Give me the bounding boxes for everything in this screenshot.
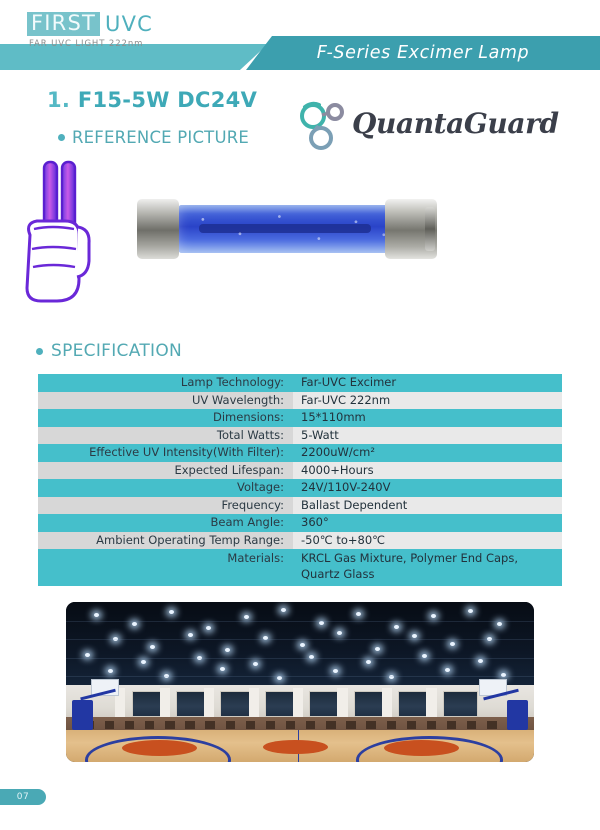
wainscot-panel (447, 721, 456, 728)
table-row: UV Wavelength:Far-UVC 222nm (38, 392, 562, 410)
ceiling-beam (66, 676, 534, 677)
reference-picture-heading: REFERENCE PICTURE (58, 128, 249, 147)
wainscot-panel (306, 721, 315, 728)
spec-value: 4000+Hours (293, 462, 562, 480)
ceiling-light-icon (356, 612, 361, 616)
ceiling-light-icon (300, 643, 305, 647)
ceiling-light-icon (188, 633, 193, 637)
table-row: Beam Angle:360° (38, 514, 562, 532)
wainscot-panel (205, 721, 214, 728)
ceiling-beam (66, 621, 534, 622)
table-row: Materials:KRCL Gas Mixture, Polymer End … (38, 549, 562, 586)
ceiling-light-icon (375, 647, 380, 651)
wainscot-panel (387, 721, 396, 728)
brochure-page: F-Series Excimer Lamp FIRST UVC FAR UVC … (0, 0, 600, 830)
ceiling-light-icon (169, 610, 174, 614)
spec-label: Ambient Operating Temp Range: (38, 532, 293, 550)
specification-label: SPECIFICATION (51, 341, 182, 361)
specification-heading: SPECIFICATION (36, 341, 182, 361)
ceiling-light-icon (220, 667, 225, 671)
gym-pillar (204, 688, 214, 720)
wainscot-panel (226, 721, 235, 728)
hand-holding-uv-tubes-icon (22, 157, 132, 317)
gym-ceiling (66, 602, 534, 695)
lamp-glow-speckle (175, 205, 407, 253)
gym-pillar (249, 688, 259, 720)
spec-label: Frequency: (38, 497, 293, 515)
gym-pillar (160, 688, 170, 720)
table-row: Lamp Technology:Far-UVC Excimer (38, 374, 562, 392)
ceiling-light-icon (431, 614, 436, 618)
hoop-base-left (72, 700, 93, 730)
basketball-hoop-right (469, 679, 530, 730)
table-row: Expected Lifespan:4000+Hours (38, 462, 562, 480)
ceiling-light-icon (333, 669, 338, 673)
ceiling-light-icon (468, 609, 473, 613)
reference-picture-label: REFERENCE PICTURE (72, 128, 249, 147)
section-number: 1. (47, 88, 70, 112)
ceiling-light-icon (450, 642, 455, 646)
spec-label: UV Wavelength: (38, 392, 293, 410)
wainscot-panel (246, 721, 255, 728)
spec-value: KRCL Gas Mixture, Polymer End Caps, Quar… (293, 549, 562, 586)
ceiling-light-icon (445, 668, 450, 672)
gym-pillar (337, 688, 347, 720)
ceiling-light-icon (108, 669, 113, 673)
quantaguard-molecule-icon (297, 100, 353, 152)
logo-first-text: FIRST (27, 12, 100, 36)
logo-tagline: FAR UVC LIGHT 222nm (27, 39, 153, 49)
page-title: 1. F15-5W DC24V (47, 88, 257, 112)
hoop-base-right (507, 700, 528, 730)
spec-value: 15*110mm (293, 409, 562, 427)
specification-table: Lamp Technology:Far-UVC ExcimerUV Wavele… (38, 374, 562, 586)
ceiling-light-icon (206, 626, 211, 630)
spec-value: 24V/110V-240V (293, 479, 562, 497)
spec-label: Dimensions: (38, 409, 293, 427)
table-row: Ambient Operating Temp Range:-50℃ to+80℃ (38, 532, 562, 550)
wainscot-panel (266, 721, 275, 728)
spec-label: Effective UV Intensity(With Filter): (38, 444, 293, 462)
ceiling-light-icon (150, 645, 155, 649)
excimer-lamp-product-image (137, 195, 442, 265)
ceiling-light-icon (141, 660, 146, 664)
bullet-icon (58, 134, 65, 141)
ceiling-light-icon (132, 622, 137, 626)
wainscot-panel (366, 721, 375, 728)
gymnasium-photo (66, 602, 534, 762)
table-row: Frequency:Ballast Dependent (38, 497, 562, 515)
spec-label: Lamp Technology: (38, 374, 293, 392)
ceiling-light-icon (281, 608, 286, 612)
spec-value: -50℃ to+80℃ (293, 532, 562, 550)
logo-uvc-text: UVC (100, 14, 153, 35)
product-illustration-area (0, 155, 600, 325)
table-row: Voltage:24V/110V-240V (38, 479, 562, 497)
model-name: F15-5W DC24V (78, 88, 257, 112)
lamp-end-cap-right (385, 199, 437, 259)
wainscot-panel (165, 721, 174, 728)
wainscot-panel (185, 721, 194, 728)
ceiling-light-icon (85, 653, 90, 657)
court-center-circle (263, 740, 329, 754)
spec-value: Far-UVC 222nm (293, 392, 562, 410)
lamp-end-cap-left (137, 199, 179, 259)
spec-label: Materials: (38, 549, 293, 586)
quantaguard-name: QuantaGuard (352, 107, 559, 140)
ceiling-beam (66, 658, 534, 659)
ceiling-light-icon (337, 631, 342, 635)
spec-label: Beam Angle: (38, 514, 293, 532)
spec-label: Expected Lifespan: (38, 462, 293, 480)
ceiling-light-icon (94, 613, 99, 617)
wainscot-panel (407, 721, 416, 728)
court-paint-left (122, 740, 197, 756)
ceiling-beam (66, 639, 534, 640)
bullet-icon (36, 348, 43, 355)
ceiling-light-icon (366, 660, 371, 664)
court-paint-right (384, 740, 459, 756)
spec-value: 360° (293, 514, 562, 532)
wainscot-panel (286, 721, 295, 728)
ceiling-light-icon (478, 659, 483, 663)
quantaguard-logo: QuantaGuard (297, 100, 577, 152)
gym-pillar (426, 688, 436, 720)
ceiling-light-icon (244, 615, 249, 619)
spec-value: 2200uW/cm² (293, 444, 562, 462)
page-number-badge: 07 (0, 789, 46, 805)
header-banner-title: F-Series Excimer Lamp (246, 36, 600, 70)
ceiling-light-icon (253, 662, 258, 666)
table-row: Effective UV Intensity(With Filter):2200… (38, 444, 562, 462)
spec-value: 5-Watt (293, 427, 562, 445)
table-row: Total Watts:5-Watt (38, 427, 562, 445)
spec-label: Voltage: (38, 479, 293, 497)
firstuvc-logo: FIRST UVC FAR UVC LIGHT 222nm (27, 12, 153, 49)
table-row: Dimensions:15*110mm (38, 409, 562, 427)
gym-pillar (382, 688, 392, 720)
spec-label: Total Watts: (38, 427, 293, 445)
ceiling-light-icon (394, 625, 399, 629)
wainscot-panel (326, 721, 335, 728)
spec-value: Far-UVC Excimer (293, 374, 562, 392)
wainscot-panel (145, 721, 154, 728)
ceiling-light-icon (412, 634, 417, 638)
basketball-hoop-left (71, 679, 132, 730)
page-header: F-Series Excimer Lamp FIRST UVC FAR UVC … (0, 0, 600, 75)
ceiling-light-icon (497, 622, 502, 626)
wainscot-panel (346, 721, 355, 728)
wainscot-panel (427, 721, 436, 728)
gym-pillar (293, 688, 303, 720)
spec-value: Ballast Dependent (293, 497, 562, 515)
ceiling-light-icon (225, 648, 230, 652)
